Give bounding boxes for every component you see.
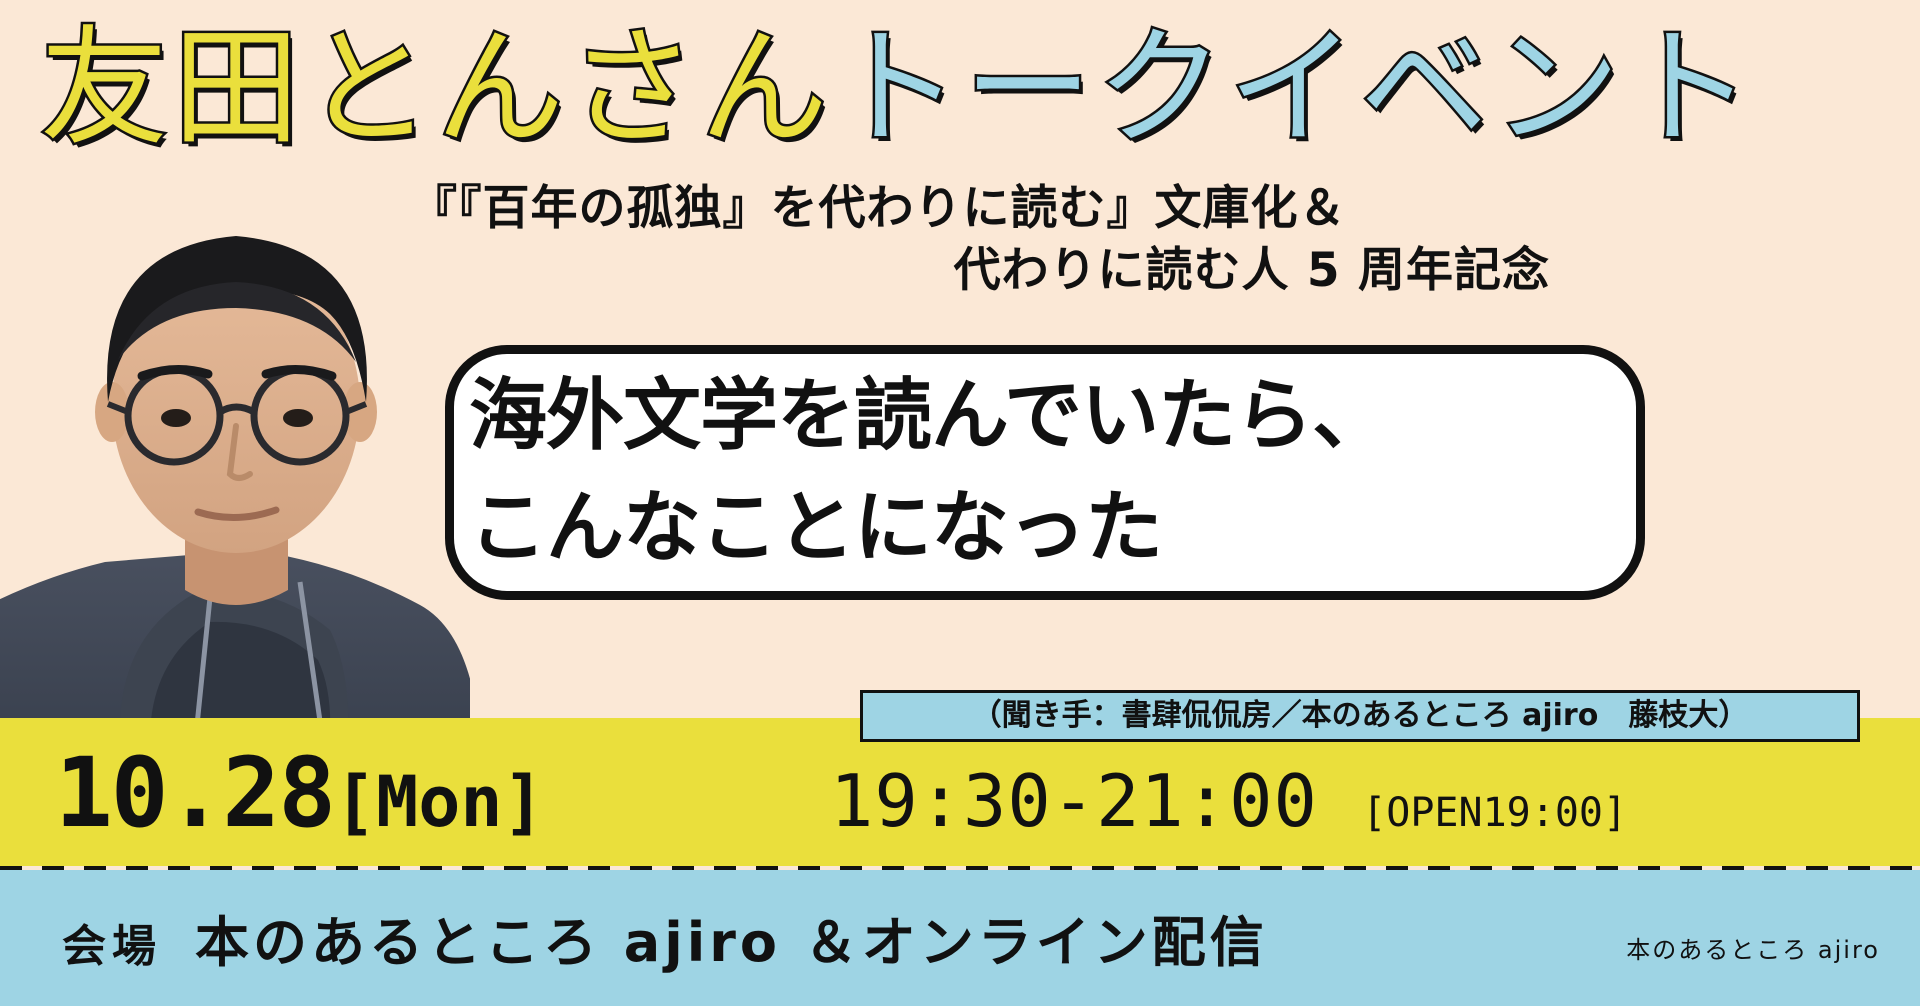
subtitle-line-2: 代わりに読む人 5 周年記念 bbox=[360, 240, 1560, 302]
headline: 友田とんさんトークイベント bbox=[40, 14, 1900, 164]
headline-name: 友田とんさん bbox=[40, 14, 832, 164]
headline-event: トークイベント bbox=[832, 14, 1756, 164]
event-month-day: 10.28 bbox=[55, 737, 334, 849]
event-time: 19:30-21:00 bbox=[830, 759, 1318, 843]
venue-name: 本のあるところ ajiro ＆オンライン配信 bbox=[195, 898, 1268, 977]
bubble-line-2: こんなことになった bbox=[469, 472, 1631, 584]
event-poster: 友田とんさんトークイベント 『『百年の孤独』を代わりに読む』文庫化＆ 代わりに読… bbox=[0, 0, 1920, 1006]
event-date: 10.28[Mon] bbox=[55, 738, 545, 857]
event-weekday: [Mon] bbox=[334, 761, 545, 843]
moderator-credit: （聞き手：書肆侃侃房／本のあるところ ajiro 藤枝大） bbox=[860, 690, 1860, 742]
venue-brand: 本のあるところ ajiro bbox=[1626, 930, 1880, 965]
dashed-divider bbox=[0, 866, 1920, 870]
venue-label: 会場 bbox=[62, 910, 162, 974]
event-time-group: 19:30-21:00 [OPEN19:00] bbox=[830, 758, 1627, 856]
bubble-line-1: 海外文学を読んでいたら、 bbox=[469, 360, 1631, 472]
speech-bubble-text: 海外文学を読んでいたら、 こんなことになった bbox=[455, 352, 1645, 592]
event-open-time: [OPEN19:00] bbox=[1362, 790, 1627, 836]
subtitle-line-1: 『『百年の孤独』を代わりに読む』文庫化＆ bbox=[360, 178, 1560, 240]
subtitle: 『『百年の孤独』を代わりに読む』文庫化＆ 代わりに読む人 5 周年記念 bbox=[360, 178, 1560, 302]
